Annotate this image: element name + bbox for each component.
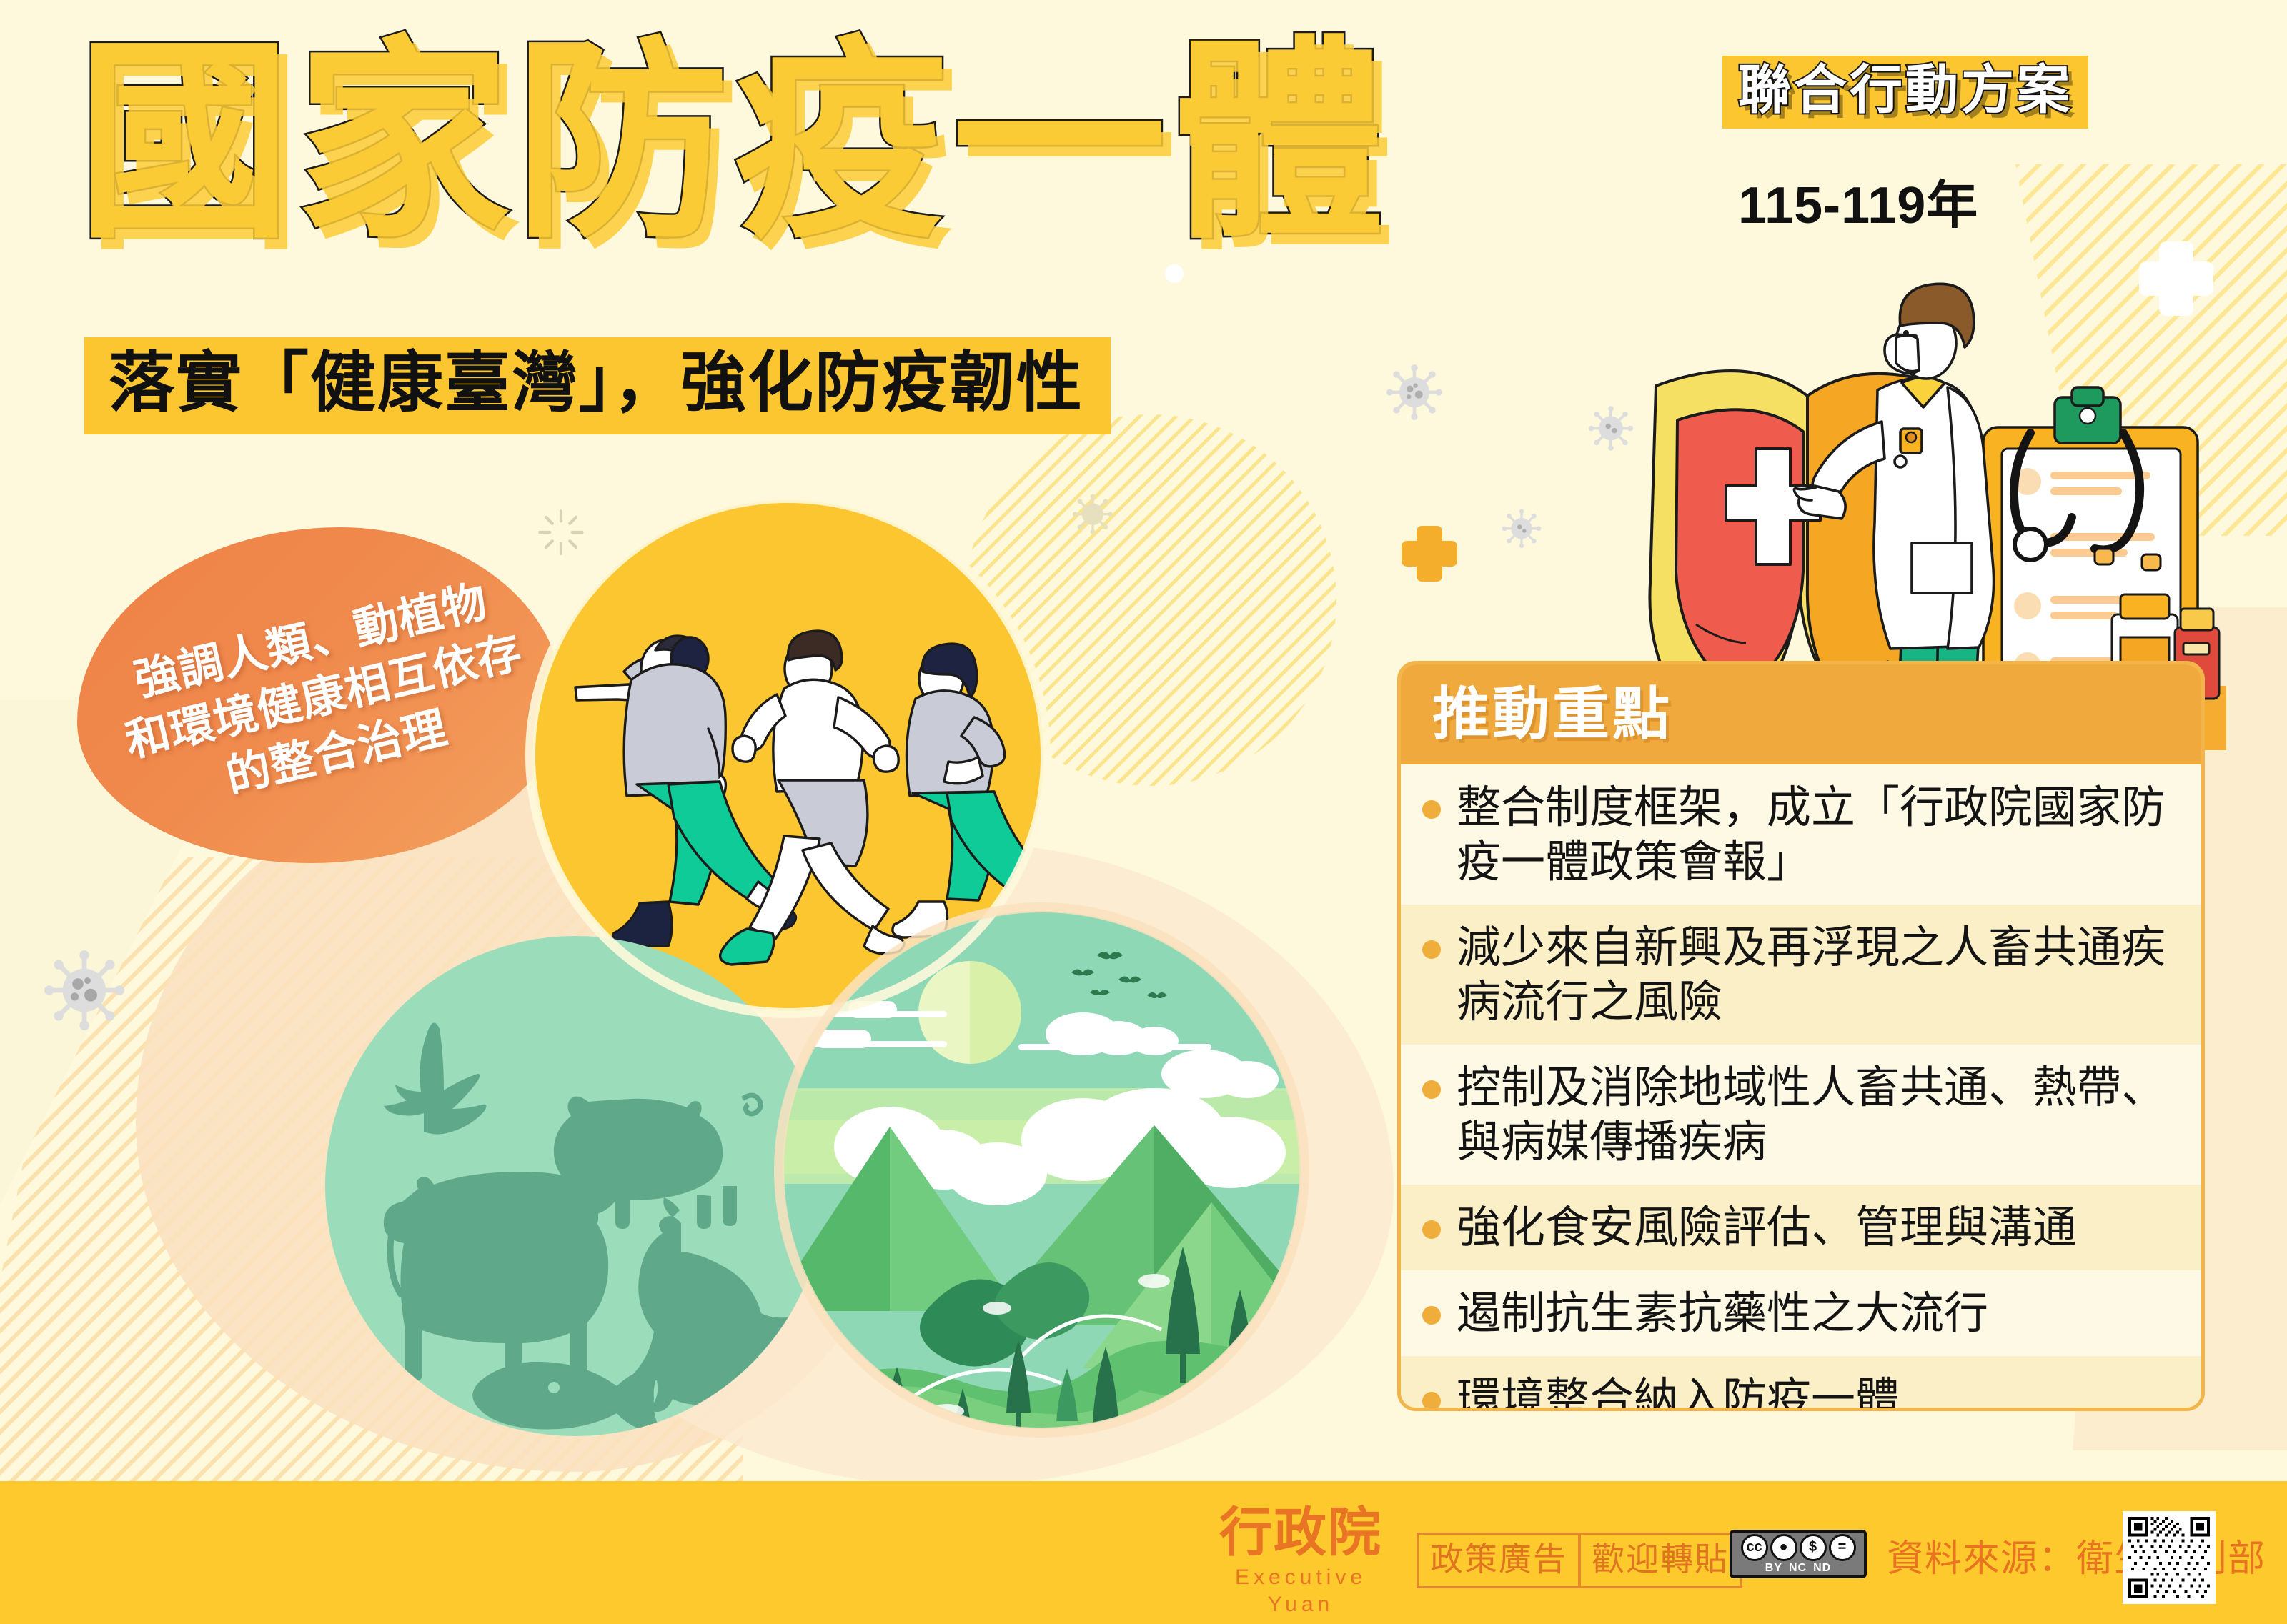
plus-icon	[1397, 522, 1462, 589]
cc-icon-row: cc ● $ =	[1741, 1534, 1856, 1561]
cc-label-row: BY NC ND	[1765, 1562, 1831, 1575]
bullet-text: 強化食安風險評估、管理與溝通	[1457, 1200, 2077, 1255]
panel-header: 推動重點	[1401, 664, 2201, 764]
cc-by-label: BY	[1765, 1562, 1782, 1575]
cc-icon: cc	[1741, 1534, 1768, 1561]
welcome-share-label: 歡迎轉貼	[1592, 1540, 1729, 1578]
footer-bar: 行政院 Executive Yuan 政策廣告 歡迎轉貼 cc ● $ = BY…	[0, 1481, 2287, 1624]
bullet-text: 減少來自新興及再浮現之人畜共通疾病流行之風險	[1457, 920, 2177, 1029]
virus-icon	[44, 950, 124, 1034]
cc-nd-label: ND	[1813, 1562, 1831, 1575]
logo-english-label: Executive Yuan	[1208, 1564, 1394, 1618]
subtitle-bar: 落實「健康臺灣」，強化防疫韌性	[84, 337, 1111, 434]
bullet-text: 整合制度框架，成立「行政院國家防疫一體政策會報」	[1457, 780, 2177, 889]
virus-icon	[1073, 494, 1113, 537]
list-item[interactable]: 環境整合納入防疫一體	[1401, 1356, 2201, 1411]
title-block: 國家防疫一體	[77, 21, 1671, 300]
plan-badge: 聯合行動方案	[1722, 56, 2088, 129]
cc-by-icon: ●	[1770, 1534, 1797, 1561]
circle-separator-ring	[774, 902, 1309, 1438]
list-item[interactable]: 減少來自新興及再浮現之人畜共通疾病流行之風險	[1401, 905, 2201, 1045]
virus-icon	[1386, 364, 1442, 424]
plan-badge-label: 聯合行動方案	[1738, 59, 2073, 121]
creative-commons-badge: cc ● $ = BY NC ND	[1730, 1530, 1867, 1578]
cc-nd-icon: =	[1829, 1534, 1856, 1561]
bullet-text: 控制及消除地域性人畜共通、熱帶、與病媒傳播疾病	[1457, 1060, 2177, 1169]
virus-icon	[1502, 509, 1542, 550]
bullet-dot-icon	[1422, 1306, 1441, 1325]
list-item[interactable]: 整合制度框架，成立「行政院國家防疫一體政策會報」	[1401, 764, 2201, 905]
poster-canvas: 國家防疫一體 聯合行動方案 115-119年 落實「健康臺灣」，強化防疫韌性 強…	[0, 0, 2287, 1624]
cc-nc-label: NC	[1789, 1562, 1807, 1575]
page-title: 國家防疫一體	[77, 36, 1389, 250]
qr-code[interactable]	[2123, 1511, 2216, 1604]
bullet-dot-icon	[1422, 800, 1441, 819]
executive-yuan-logo: 行政院 Executive Yuan	[1208, 1504, 1394, 1618]
subtitle-label: 落實「健康臺灣」，強化防疫韌性	[109, 344, 1083, 421]
list-item[interactable]: 遏制抗生素抗藥性之大流行	[1401, 1270, 2201, 1356]
logo-chinese-label: 行政院	[1208, 1504, 1394, 1561]
policy-ad-tag: 政策廣告	[1417, 1533, 1581, 1588]
list-item[interactable]: 強化食安風險評估、管理與溝通	[1401, 1185, 2201, 1270]
welcome-share-tag: 歡迎轉貼	[1578, 1533, 1742, 1588]
year-range-label: 115-119年	[1738, 177, 1978, 234]
bullet-text: 環境整合納入防疫一體	[1457, 1372, 1900, 1411]
policy-ad-label: 政策廣告	[1430, 1540, 1567, 1578]
bullet-dot-icon	[1422, 1080, 1441, 1099]
key-initiatives-panel: 推動重點 整合制度框架，成立「行政院國家防疫一體政策會報」 減少來自新興及再浮現…	[1397, 661, 2205, 1411]
bullet-dot-icon	[1422, 1220, 1441, 1239]
cc-nc-icon: $	[1800, 1534, 1827, 1561]
panel-header-label: 推動重點	[1432, 683, 1672, 746]
bullet-dot-icon	[1422, 940, 1441, 959]
list-item[interactable]: 控制及消除地域性人畜共通、熱帶、與病媒傳播疾病	[1401, 1045, 2201, 1185]
bullet-dot-icon	[1422, 1392, 1441, 1410]
bullet-text: 遏制抗生素抗藥性之大流行	[1457, 1286, 1988, 1340]
